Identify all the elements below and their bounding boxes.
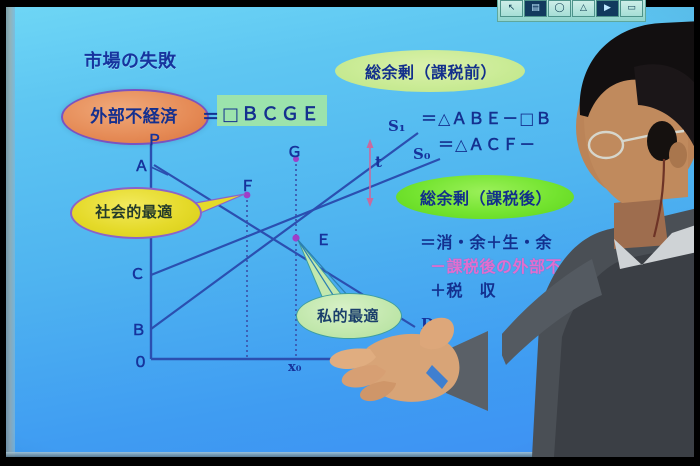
tax-wedge-arrow-top [367,139,374,148]
lecture-slide: 市場の失敗 外部不経済 ＝ □ＢＣＧＥ 総余剰（課税前） ＝△ＡＢＥ－□Ｂ ＝△… [6,7,694,457]
curve-label-t: t [375,153,382,171]
axis-tick-x0: x₀ [288,360,301,375]
axis-label-c: Ｃ [130,263,145,284]
surplus-after-formula-3: ＋税 収 [430,277,496,301]
external-diseconomy-label: 外部不経済 [64,102,204,127]
social-optimum-label: 社会的最適 [72,201,196,222]
axis-label-p: Ｐ [147,129,162,150]
image-tool-icon[interactable]: △ [572,0,595,17]
bcge-value: □ＢＣＧＥ [222,100,321,126]
surplus-before-formula-1: ＝△ＡＢＥ－□Ｂ [421,105,552,129]
note-tool-icon[interactable]: ▤ [524,0,547,17]
axis-label-b: Ｂ [131,319,146,340]
curve-label-s1: S₁ [388,117,405,135]
surplus-before-title: 総余剰（課税前） [340,59,522,83]
overlay-toolbar[interactable]: ↖ ▤ ◯ △ ▶ ▭ [497,0,646,22]
point-label-g: Ｇ [287,141,302,162]
ellipse-tool-icon[interactable]: ◯ [548,0,571,17]
surplus-before-formula-2: ＝△ＡＣＦ－ [438,131,536,155]
private-optimum-label: 私的最適 [298,305,398,326]
surplus-after-formula-1: ＝消・余＋生・余 [420,229,552,253]
video-frame: 市場の失敗 外部不経済 ＝ □ＢＣＧＥ 総余剰（課税前） ＝△ＡＢＥ－□Ｂ ＝△… [0,0,700,466]
curve-label-d: D [421,315,434,333]
page-title: 市場の失敗 [84,47,177,73]
point-label-f: Ｆ [240,175,255,196]
point-label-e: Ｅ [316,229,331,250]
axis-label-origin: ０ [133,351,148,372]
play-tool-icon[interactable]: ▶ [596,0,619,17]
surplus-after-formula-2: －課税後の外部不経済 [430,253,595,277]
page-number: 112 [626,421,645,431]
pointer-tool-icon[interactable]: ↖ [500,0,523,17]
tax-wedge-arrow-bottom [367,198,374,207]
curve-label-s0: S₀ [413,145,430,163]
axis-label-a: Ａ [134,155,149,176]
surplus-after-title: 総余剰（課税後） [400,185,572,209]
more-tool-icon[interactable]: ▭ [620,0,643,17]
